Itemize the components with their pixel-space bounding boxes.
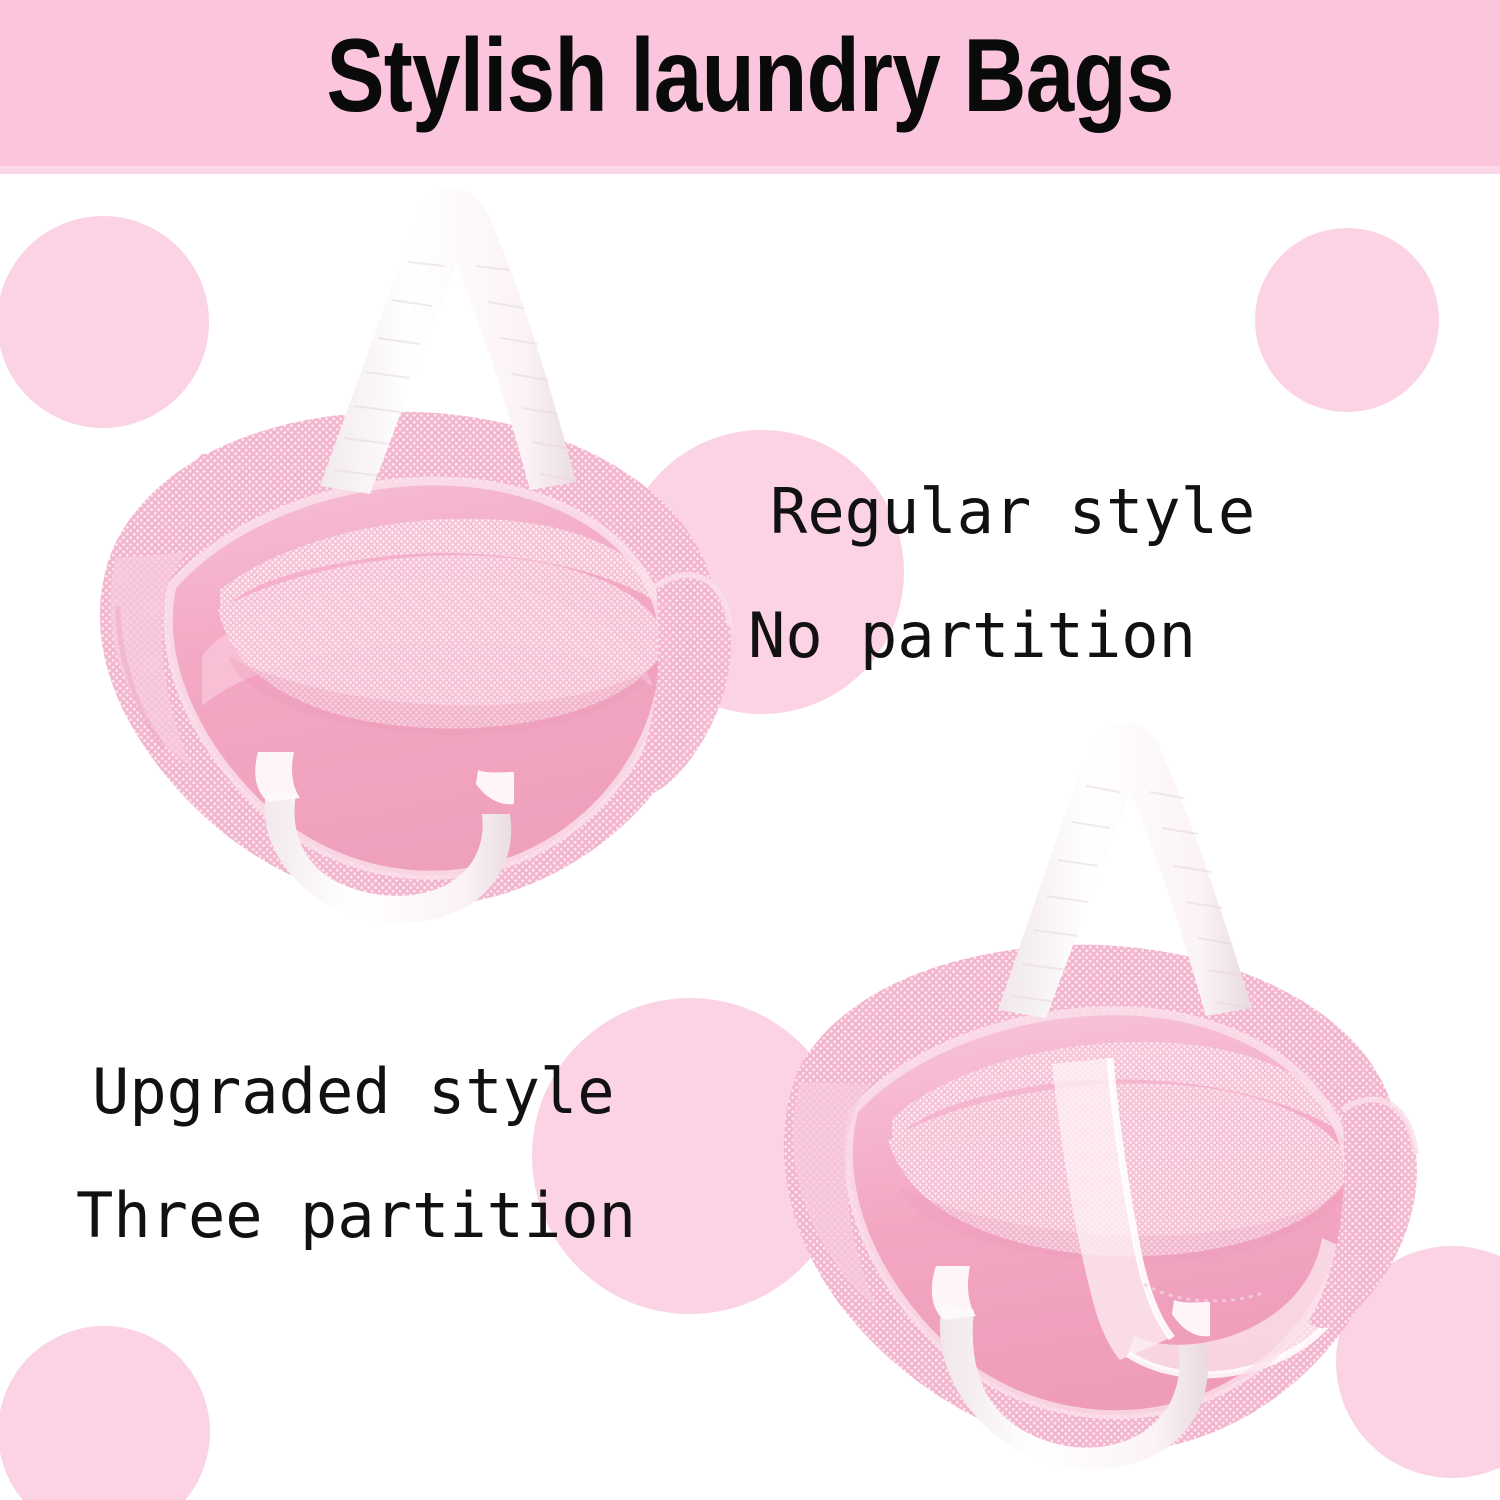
circle-bottom-left — [0, 1326, 210, 1500]
title-banner-strip — [0, 166, 1500, 174]
caption-regular-line2: No partition — [748, 596, 1255, 676]
caption-upgraded-line2: Three partition — [76, 1176, 636, 1256]
caption-regular-style: Regular style No partition — [770, 472, 1255, 676]
circle-top-right — [1255, 228, 1439, 412]
product-image-upgraded-bag — [742, 718, 1432, 1478]
caption-upgraded-line1: Upgraded style — [92, 1052, 636, 1132]
page-title: Stylish laundry Bags — [120, 16, 1380, 136]
caption-regular-line1: Regular style — [770, 472, 1255, 552]
product-image-regular-bag — [52, 186, 752, 926]
caption-upgraded-style: Upgraded style Three partition — [92, 1052, 636, 1256]
product-infographic: Stylish laundry Bags Regular style No pa… — [0, 0, 1500, 1500]
